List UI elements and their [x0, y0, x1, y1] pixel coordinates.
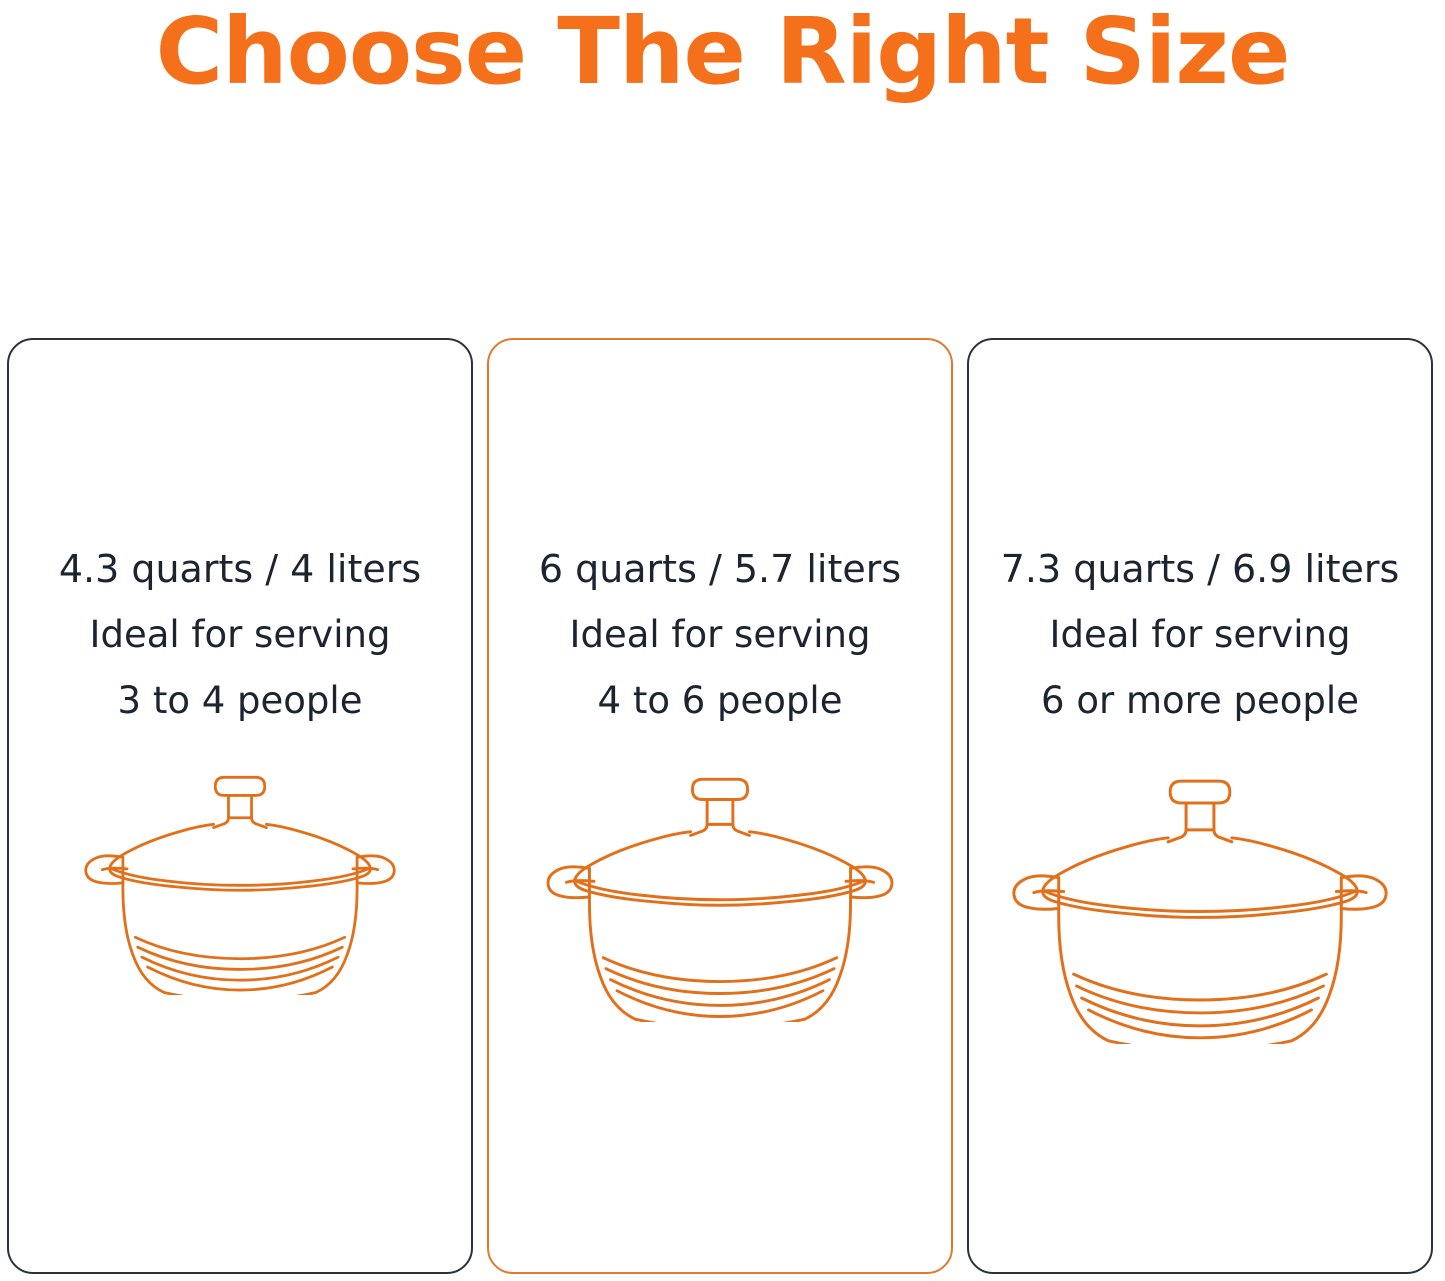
size-card-large-text: 7.3 quarts / 6.9 liters Ideal for servin…	[969, 536, 1431, 734]
size-guide-page: Choose The Right Size 4.3 quarts / 4 lit…	[0, 0, 1445, 1281]
size-card-row: 4.3 quarts / 4 liters Ideal for serving …	[0, 338, 1445, 1278]
serving-count-label: 6 or more people	[969, 668, 1431, 734]
size-card-small[interactable]: 4.3 quarts / 4 liters Ideal for serving …	[7, 338, 473, 1274]
size-card-large[interactable]: 7.3 quarts / 6.9 liters Ideal for servin…	[967, 338, 1433, 1274]
size-card-medium[interactable]: 6 quarts / 5.7 liters Ideal for serving …	[487, 338, 953, 1274]
serving-label: Ideal for serving	[969, 602, 1431, 668]
serving-count-label: 4 to 6 people	[489, 668, 951, 734]
serving-count-label: 3 to 4 people	[9, 668, 471, 734]
capacity-label: 7.3 quarts / 6.9 liters	[969, 536, 1431, 602]
serving-label: Ideal for serving	[9, 602, 471, 668]
dutch-oven-pot-icon-medium	[489, 760, 951, 1272]
dutch-oven-pot-icon-large	[969, 760, 1431, 1272]
size-card-medium-text: 6 quarts / 5.7 liters Ideal for serving …	[489, 536, 951, 734]
size-card-small-text: 4.3 quarts / 4 liters Ideal for serving …	[9, 536, 471, 734]
serving-label: Ideal for serving	[489, 602, 951, 668]
capacity-label: 6 quarts / 5.7 liters	[489, 536, 951, 602]
page-title: Choose The Right Size	[0, 2, 1445, 102]
capacity-label: 4.3 quarts / 4 liters	[9, 536, 471, 602]
dutch-oven-pot-icon-small	[9, 760, 471, 1272]
